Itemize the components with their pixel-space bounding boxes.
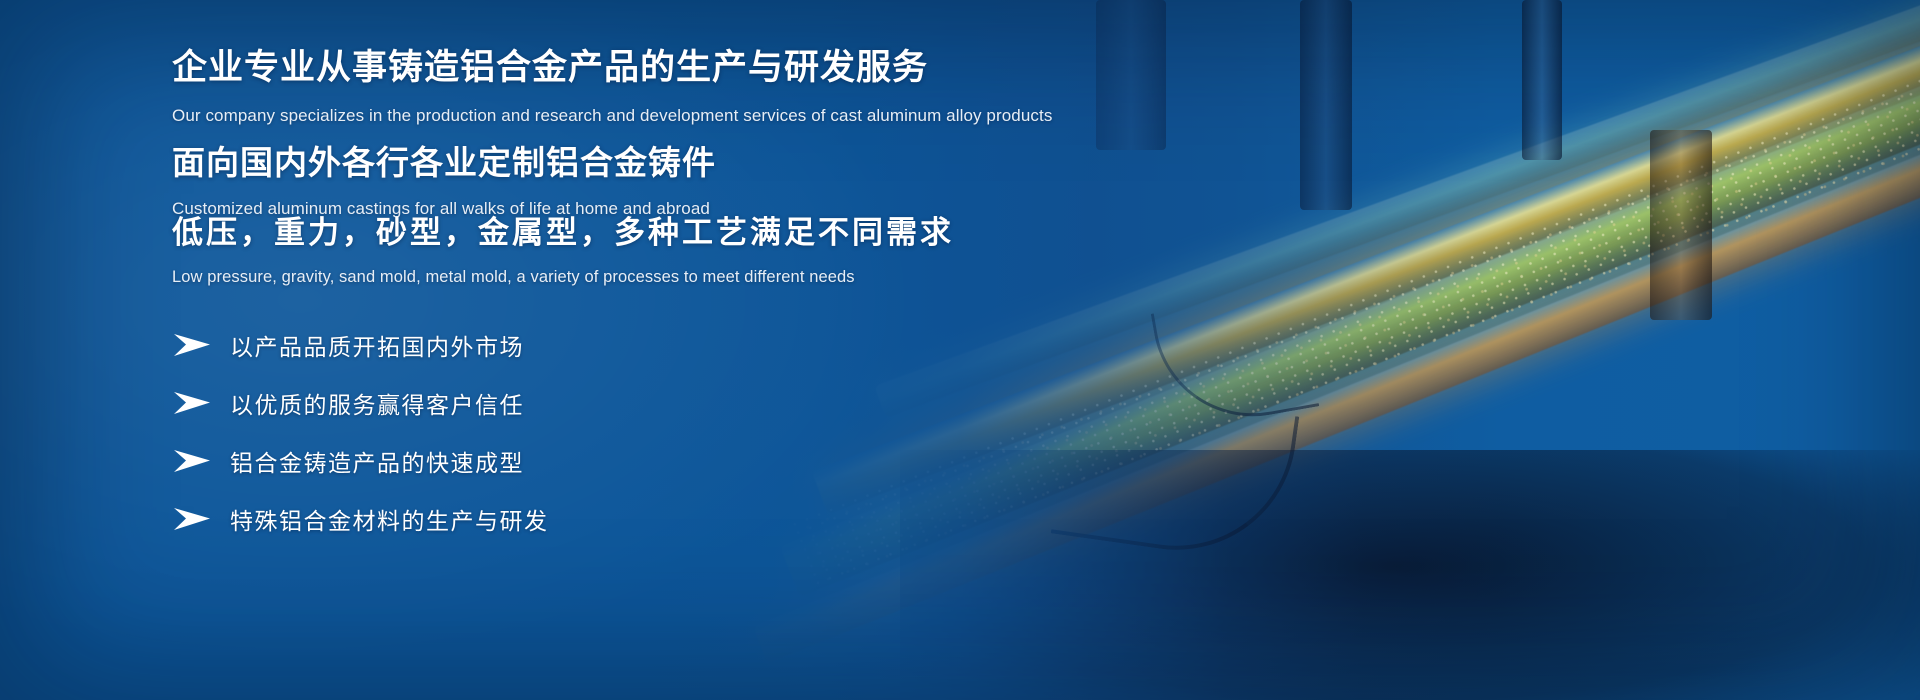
list-item-label: 以优质的服务赢得客户信任 [230, 386, 524, 420]
list-item: 以优质的服务赢得客户信任 [172, 374, 549, 432]
list-item: 铝合金铸造产品的快速成型 [172, 432, 549, 490]
list-item-label: 铝合金铸造产品的快速成型 [230, 444, 524, 478]
headline-block-2: 面向国内外各行各业定制铝合金铸件 Customized aluminum cas… [172, 144, 716, 220]
arrow-right-icon [172, 332, 212, 358]
list-item-label: 特殊铝合金材料的生产与研发 [230, 502, 549, 536]
headline-cn-1: 企业专业从事铸造铝合金产品的生产与研发服务 [172, 48, 1052, 88]
arrow-right-icon [172, 506, 212, 532]
subtitle-en-3: Low pressure, gravity, sand mold, metal … [172, 267, 954, 288]
subtitle-en-1: Our company specializes in the productio… [172, 105, 1052, 127]
headline-block-3: 低压，重力，砂型，金属型，多种工艺满足不同需求 Low pressure, gr… [172, 215, 954, 288]
hero-banner: 企业专业从事铸造铝合金产品的生产与研发服务 Our company specia… [0, 0, 1920, 700]
banner-content: 企业专业从事铸造铝合金产品的生产与研发服务 Our company specia… [172, 0, 1272, 700]
list-item: 以产品品质开拓国内外市场 [172, 316, 549, 374]
list-item-label: 以产品品质开拓国内外市场 [230, 328, 524, 362]
headline-block-1: 企业专业从事铸造铝合金产品的生产与研发服务 Our company specia… [172, 48, 1052, 127]
arrow-right-icon [172, 448, 212, 474]
headline-cn-3: 低压，重力，砂型，金属型，多种工艺满足不同需求 [172, 215, 954, 251]
arrow-right-icon [172, 390, 212, 416]
headline-cn-2: 面向国内外各行各业定制铝合金铸件 [172, 144, 716, 182]
list-item: 特殊铝合金材料的生产与研发 [172, 490, 549, 548]
feature-bullet-list: 以产品品质开拓国内外市场 以优质的服务赢得客户信任 铝合金铸造产品的快速成型 [172, 316, 549, 548]
